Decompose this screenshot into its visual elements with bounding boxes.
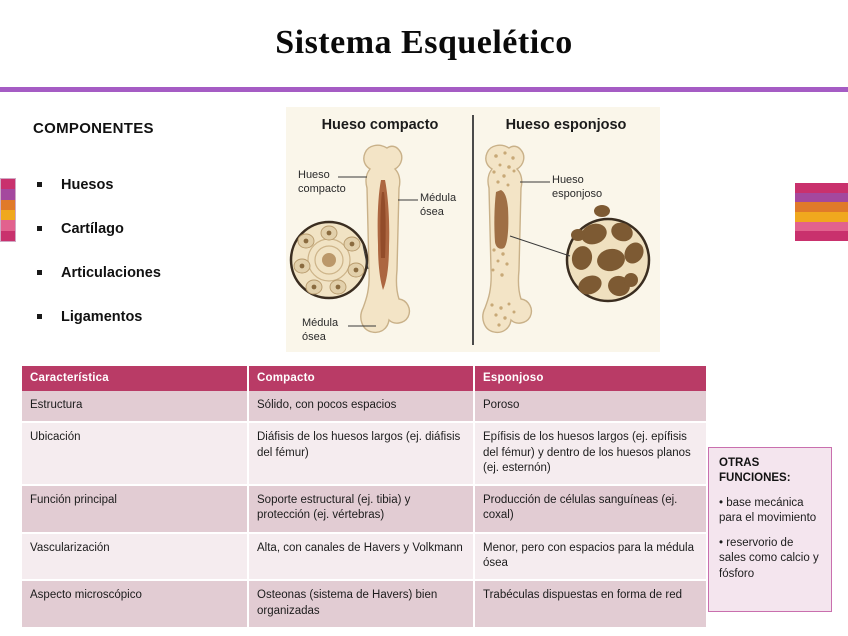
- figure-label-marrow-top: Médulaósea: [420, 192, 480, 220]
- cell-caracteristica: Vascularización: [22, 533, 248, 581]
- list-item: Articulaciones: [36, 266, 266, 310]
- cell-caracteristica: Función principal: [22, 485, 248, 533]
- component-label: Articulaciones: [61, 265, 161, 281]
- otras-funciones-title: OTRAS FUNCIONES:: [719, 456, 823, 486]
- cell-caracteristica: Aspecto microscópico: [22, 580, 248, 628]
- cell-caracteristica: Ubicación: [22, 422, 248, 485]
- column-header-compacto: Compacto: [248, 366, 474, 391]
- bullet-square-icon: [37, 314, 42, 319]
- cell-compacto: Soporte estructural (ej. tibia) y protec…: [248, 485, 474, 533]
- bullet-square-icon: [37, 182, 42, 187]
- table-header-row: Característica Compacto Esponjoso: [22, 366, 706, 391]
- cell-esponjoso: Menor, pero con espacios para la médula …: [474, 533, 706, 581]
- page-title: Sistema Esquelético: [0, 24, 848, 62]
- otras-funciones-box: OTRAS FUNCIONES: • base mecánica para el…: [708, 447, 832, 612]
- cell-caracteristica: Estructura: [22, 391, 248, 422]
- list-item: Ligamentos: [36, 310, 266, 354]
- title-divider-rule: [0, 87, 848, 92]
- table-row: Estructura Sólido, con pocos espacios Po…: [22, 391, 706, 422]
- spongy-bone-illustration: [474, 140, 660, 350]
- slide-canvas: Sistema Esquelético COMPONENTES Huesos C…: [0, 0, 848, 636]
- component-label: Huesos: [61, 177, 113, 193]
- component-label: Ligamentos: [61, 309, 142, 325]
- comparison-table: Característica Compacto Esponjoso Estruc…: [22, 366, 706, 629]
- cell-esponjoso: Epífisis de los huesos largos (ej. epífi…: [474, 422, 706, 485]
- componentes-heading: COMPONENTES: [33, 120, 154, 137]
- cell-esponjoso: Poroso: [474, 391, 706, 422]
- component-label: Cartílago: [61, 221, 124, 237]
- list-item: Cartílago: [36, 222, 266, 266]
- table-row: Función principal Soporte estructural (e…: [22, 485, 706, 533]
- otras-funciones-item: • base mecánica para el movimiento: [719, 496, 823, 526]
- figure-heading-compact: Hueso compacto: [292, 117, 468, 133]
- decorative-stripe-right: [795, 183, 848, 241]
- figure-heading-spongy: Hueso esponjoso: [478, 117, 654, 133]
- componentes-list: Huesos Cartílago Articulaciones Ligament…: [36, 178, 266, 354]
- figure-label-spongy-bone: Huesoesponjoso: [552, 174, 622, 202]
- cell-esponjoso: Trabéculas dispuestas en forma de red: [474, 580, 706, 628]
- bullet-square-icon: [37, 226, 42, 231]
- table-row: Vascularización Alta, con canales de Hav…: [22, 533, 706, 581]
- figure-label-compact-bone: Huesocompacto: [298, 169, 368, 197]
- column-header-esponjoso: Esponjoso: [474, 366, 706, 391]
- cell-compacto: Sólido, con pocos espacios: [248, 391, 474, 422]
- list-item: Huesos: [36, 178, 266, 222]
- cell-esponjoso: Producción de células sanguíneas (ej. co…: [474, 485, 706, 533]
- decorative-stripe-left: [0, 178, 16, 242]
- figure-label-marrow-bottom: Médulaósea: [302, 317, 362, 345]
- cell-compacto: Alta, con canales de Havers y Volkmann: [248, 533, 474, 581]
- cell-compacto: Osteonas (sistema de Havers) bien organi…: [248, 580, 474, 628]
- otras-funciones-item: • reservorio de sales como calcio y fósf…: [719, 536, 823, 582]
- table-row: Aspecto microscópico Osteonas (sistema d…: [22, 580, 706, 628]
- bullet-square-icon: [37, 270, 42, 275]
- column-header-caracteristica: Característica: [22, 366, 248, 391]
- bone-anatomy-figure: Hueso compacto Hueso esponjoso: [286, 107, 660, 352]
- table-row: Ubicación Diáfisis de los huesos largos …: [22, 422, 706, 485]
- cell-compacto: Diáfisis de los huesos largos (ej. diáfi…: [248, 422, 474, 485]
